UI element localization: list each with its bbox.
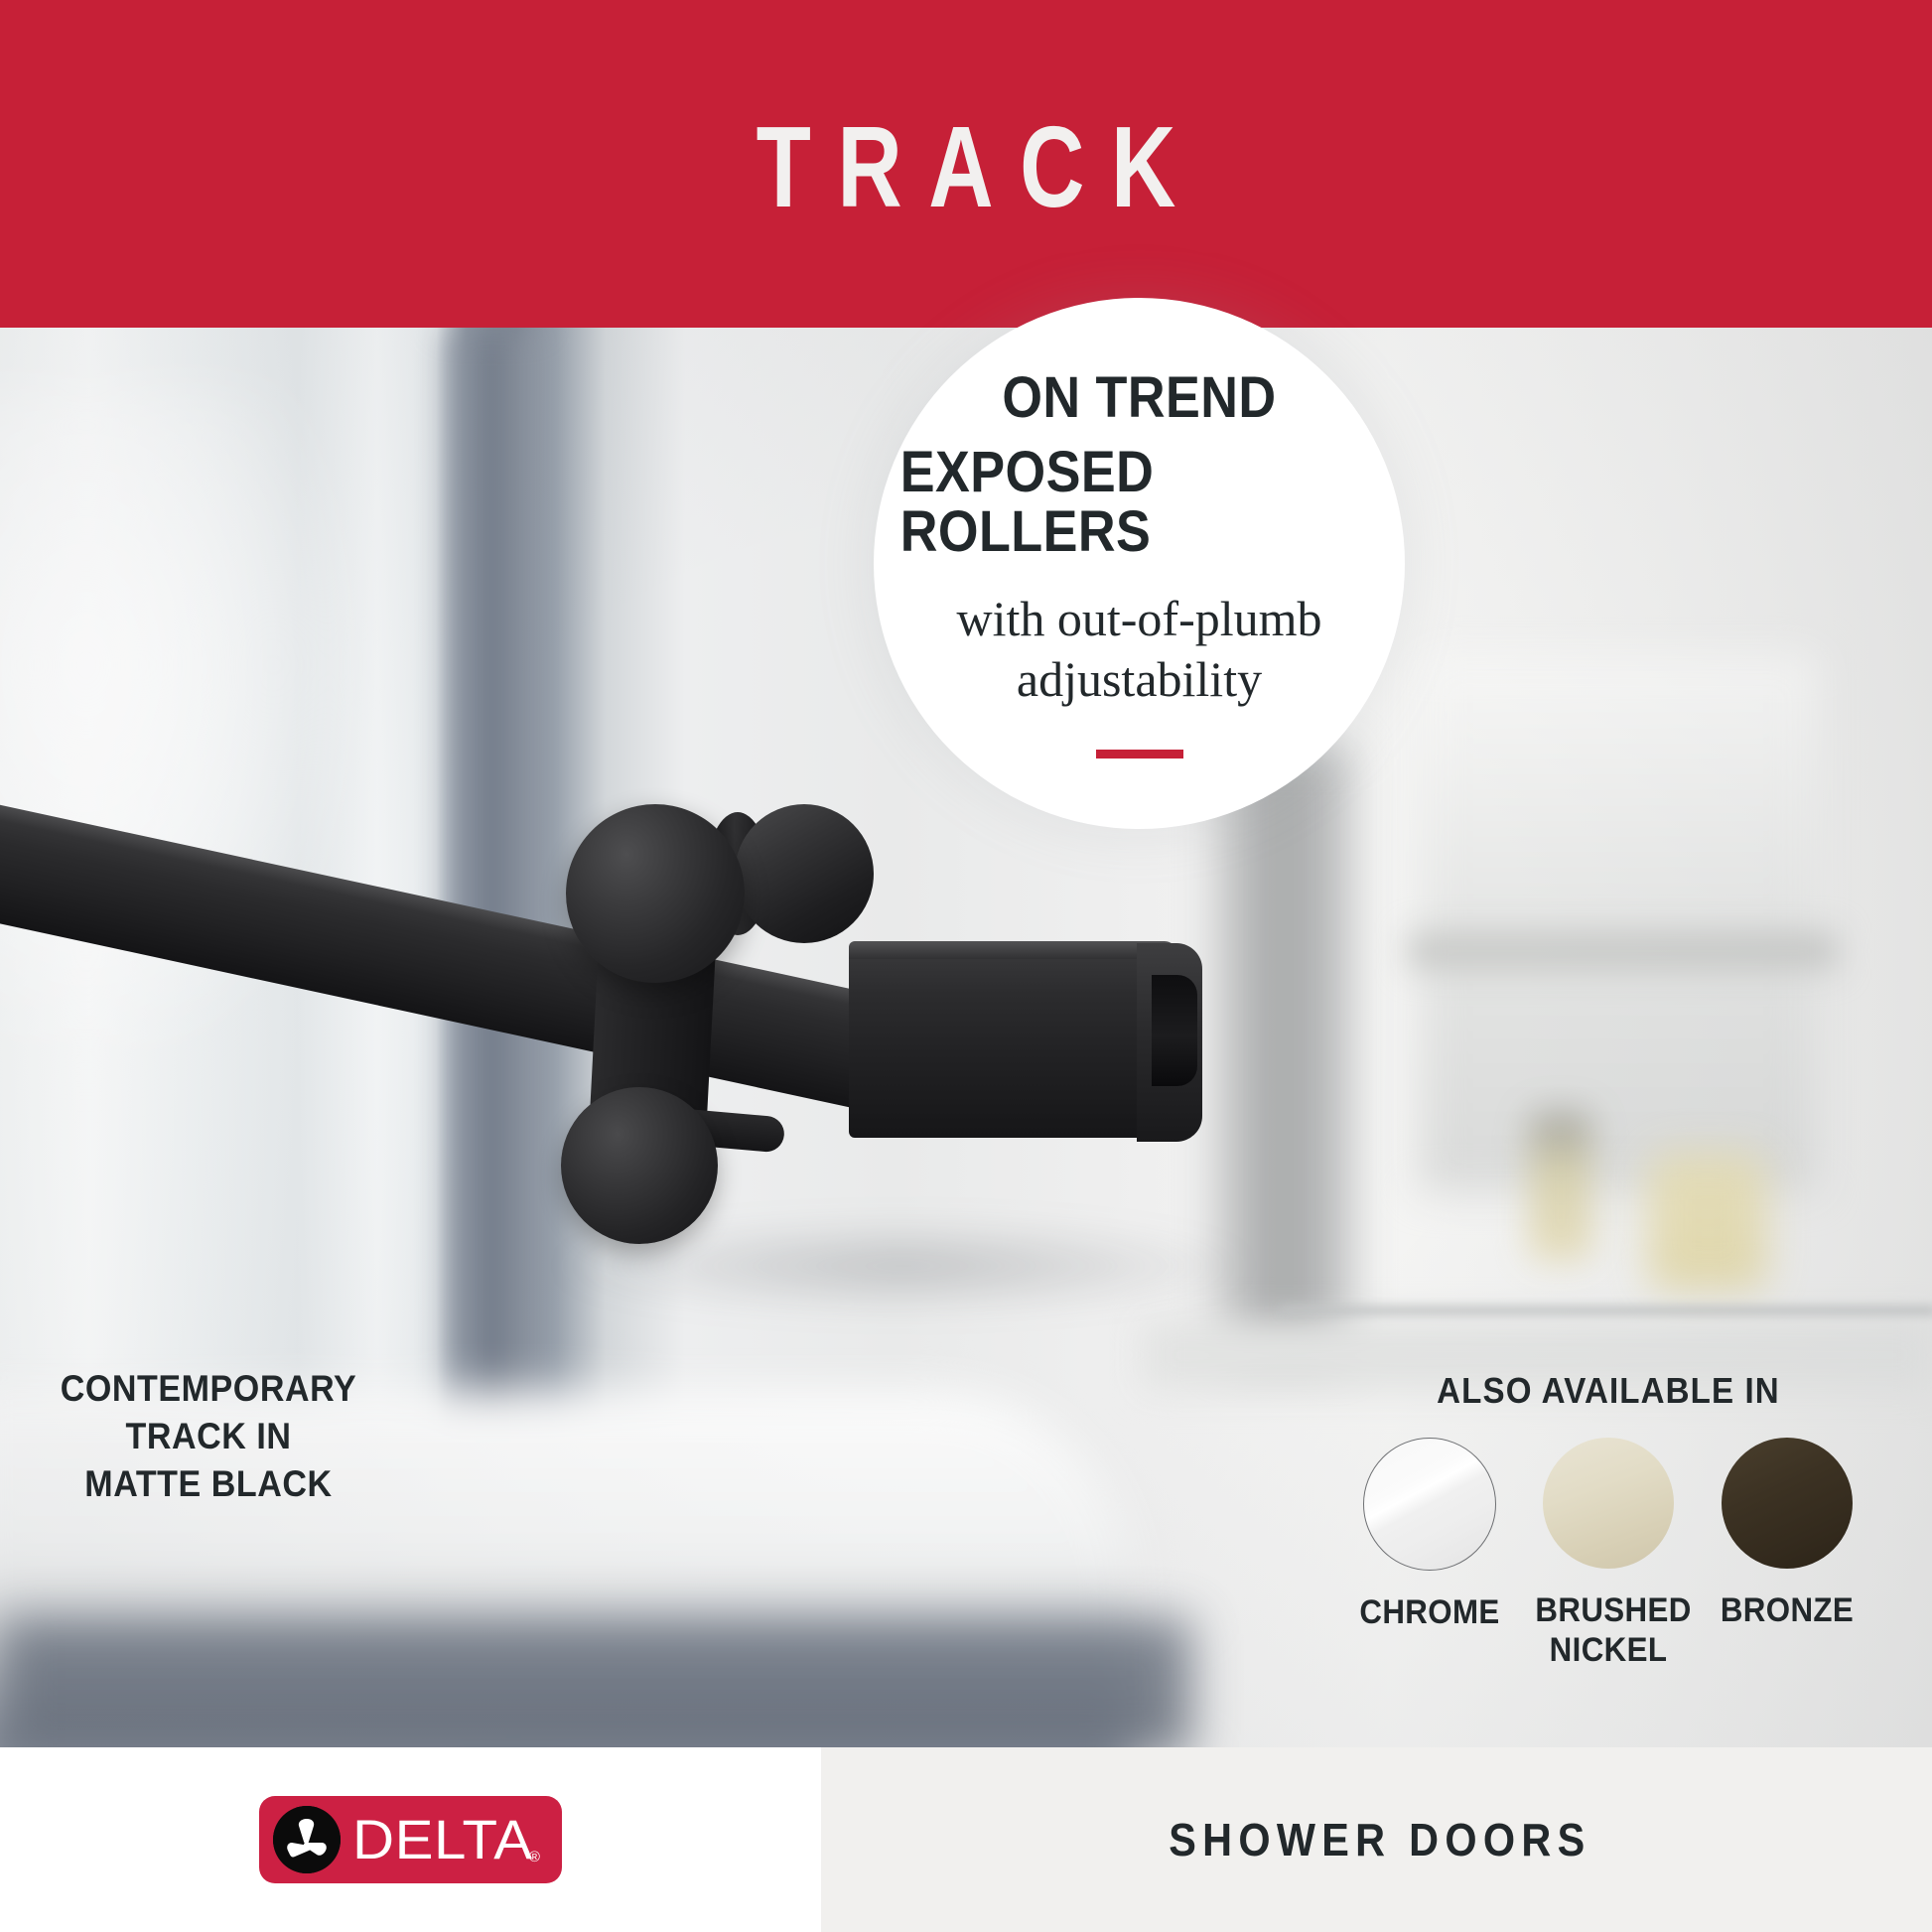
callout-accent-dash: [1096, 750, 1183, 759]
track-channel: [849, 943, 1186, 1138]
finish-swatch-row: CHROME BRUSHED NICKEL BRONZE: [1350, 1438, 1866, 1670]
available-finishes: ALSO AVAILABLE IN CHROME BRUSHED NICKEL …: [1350, 1370, 1866, 1670]
delta-triangle-icon: [273, 1806, 341, 1873]
callout-subtext-line2: adjustability: [956, 649, 1321, 710]
bronze-swatch-icon: [1722, 1438, 1853, 1569]
delta-logo[interactable]: DELTA ®: [259, 1796, 562, 1883]
chrome-swatch-icon: [1363, 1438, 1496, 1571]
footer-bar: DELTA ® SHOWER DOORS: [0, 1747, 1932, 1932]
finish-option-chrome[interactable]: CHROME: [1350, 1438, 1509, 1670]
brushed-nickel-swatch-label: BRUSHED NICKEL: [1535, 1590, 1681, 1670]
roller-hub: [735, 804, 874, 943]
marketing-graphic: TRACK ON TREND EXPOSED ROLLERS: [0, 0, 1932, 1932]
caption-line1: CONTEMPORARY: [58, 1365, 359, 1413]
footer-category-label: SHOWER DOORS: [1163, 1813, 1591, 1866]
brushed-nickel-swatch-icon: [1543, 1438, 1674, 1569]
track-channel-highlight: [849, 941, 1176, 959]
callout-subtext: with out-of-plumb adjustability: [956, 589, 1321, 710]
finish-option-brushed-nickel[interactable]: BRUSHED NICKEL: [1529, 1438, 1688, 1670]
finishes-heading: ALSO AVAILABLE IN: [1371, 1370, 1846, 1412]
header-band: TRACK: [0, 0, 1932, 328]
chrome-swatch-label: CHROME: [1356, 1592, 1502, 1632]
callout-headline-line1: ON TREND: [1002, 368, 1276, 429]
callout-headline-line2: EXPOSED ROLLERS: [900, 443, 1379, 564]
bronze-label-line1: BRONZE: [1714, 1590, 1860, 1630]
delta-wordmark: DELTA: [352, 1812, 533, 1867]
finish-option-bronze[interactable]: BRONZE: [1708, 1438, 1866, 1670]
caption-line3: MATTE BLACK: [58, 1460, 359, 1508]
nickel-label-line1: BRUSHED: [1535, 1590, 1681, 1630]
footer-category-area: SHOWER DOORS: [821, 1747, 1932, 1932]
track-end-cap-opening: [1152, 975, 1197, 1086]
footer-brand-area: DELTA ®: [0, 1747, 821, 1932]
roller-disc-upper: [566, 804, 745, 983]
bronze-swatch-label: BRONZE: [1714, 1590, 1860, 1630]
caption-line2: TRACK IN: [58, 1413, 359, 1460]
page-title: TRACK: [730, 109, 1202, 224]
callout-subtext-line1: with out-of-plumb: [956, 589, 1321, 649]
feature-callout-circle: ON TREND EXPOSED ROLLERS with out-of-plu…: [874, 298, 1405, 829]
chrome-label-line1: CHROME: [1356, 1592, 1502, 1632]
roller-disc-lower: [561, 1087, 718, 1244]
nickel-label-line2: NICKEL: [1535, 1630, 1681, 1670]
product-finish-caption: CONTEMPORARY TRACK IN MATTE BLACK: [58, 1365, 359, 1508]
